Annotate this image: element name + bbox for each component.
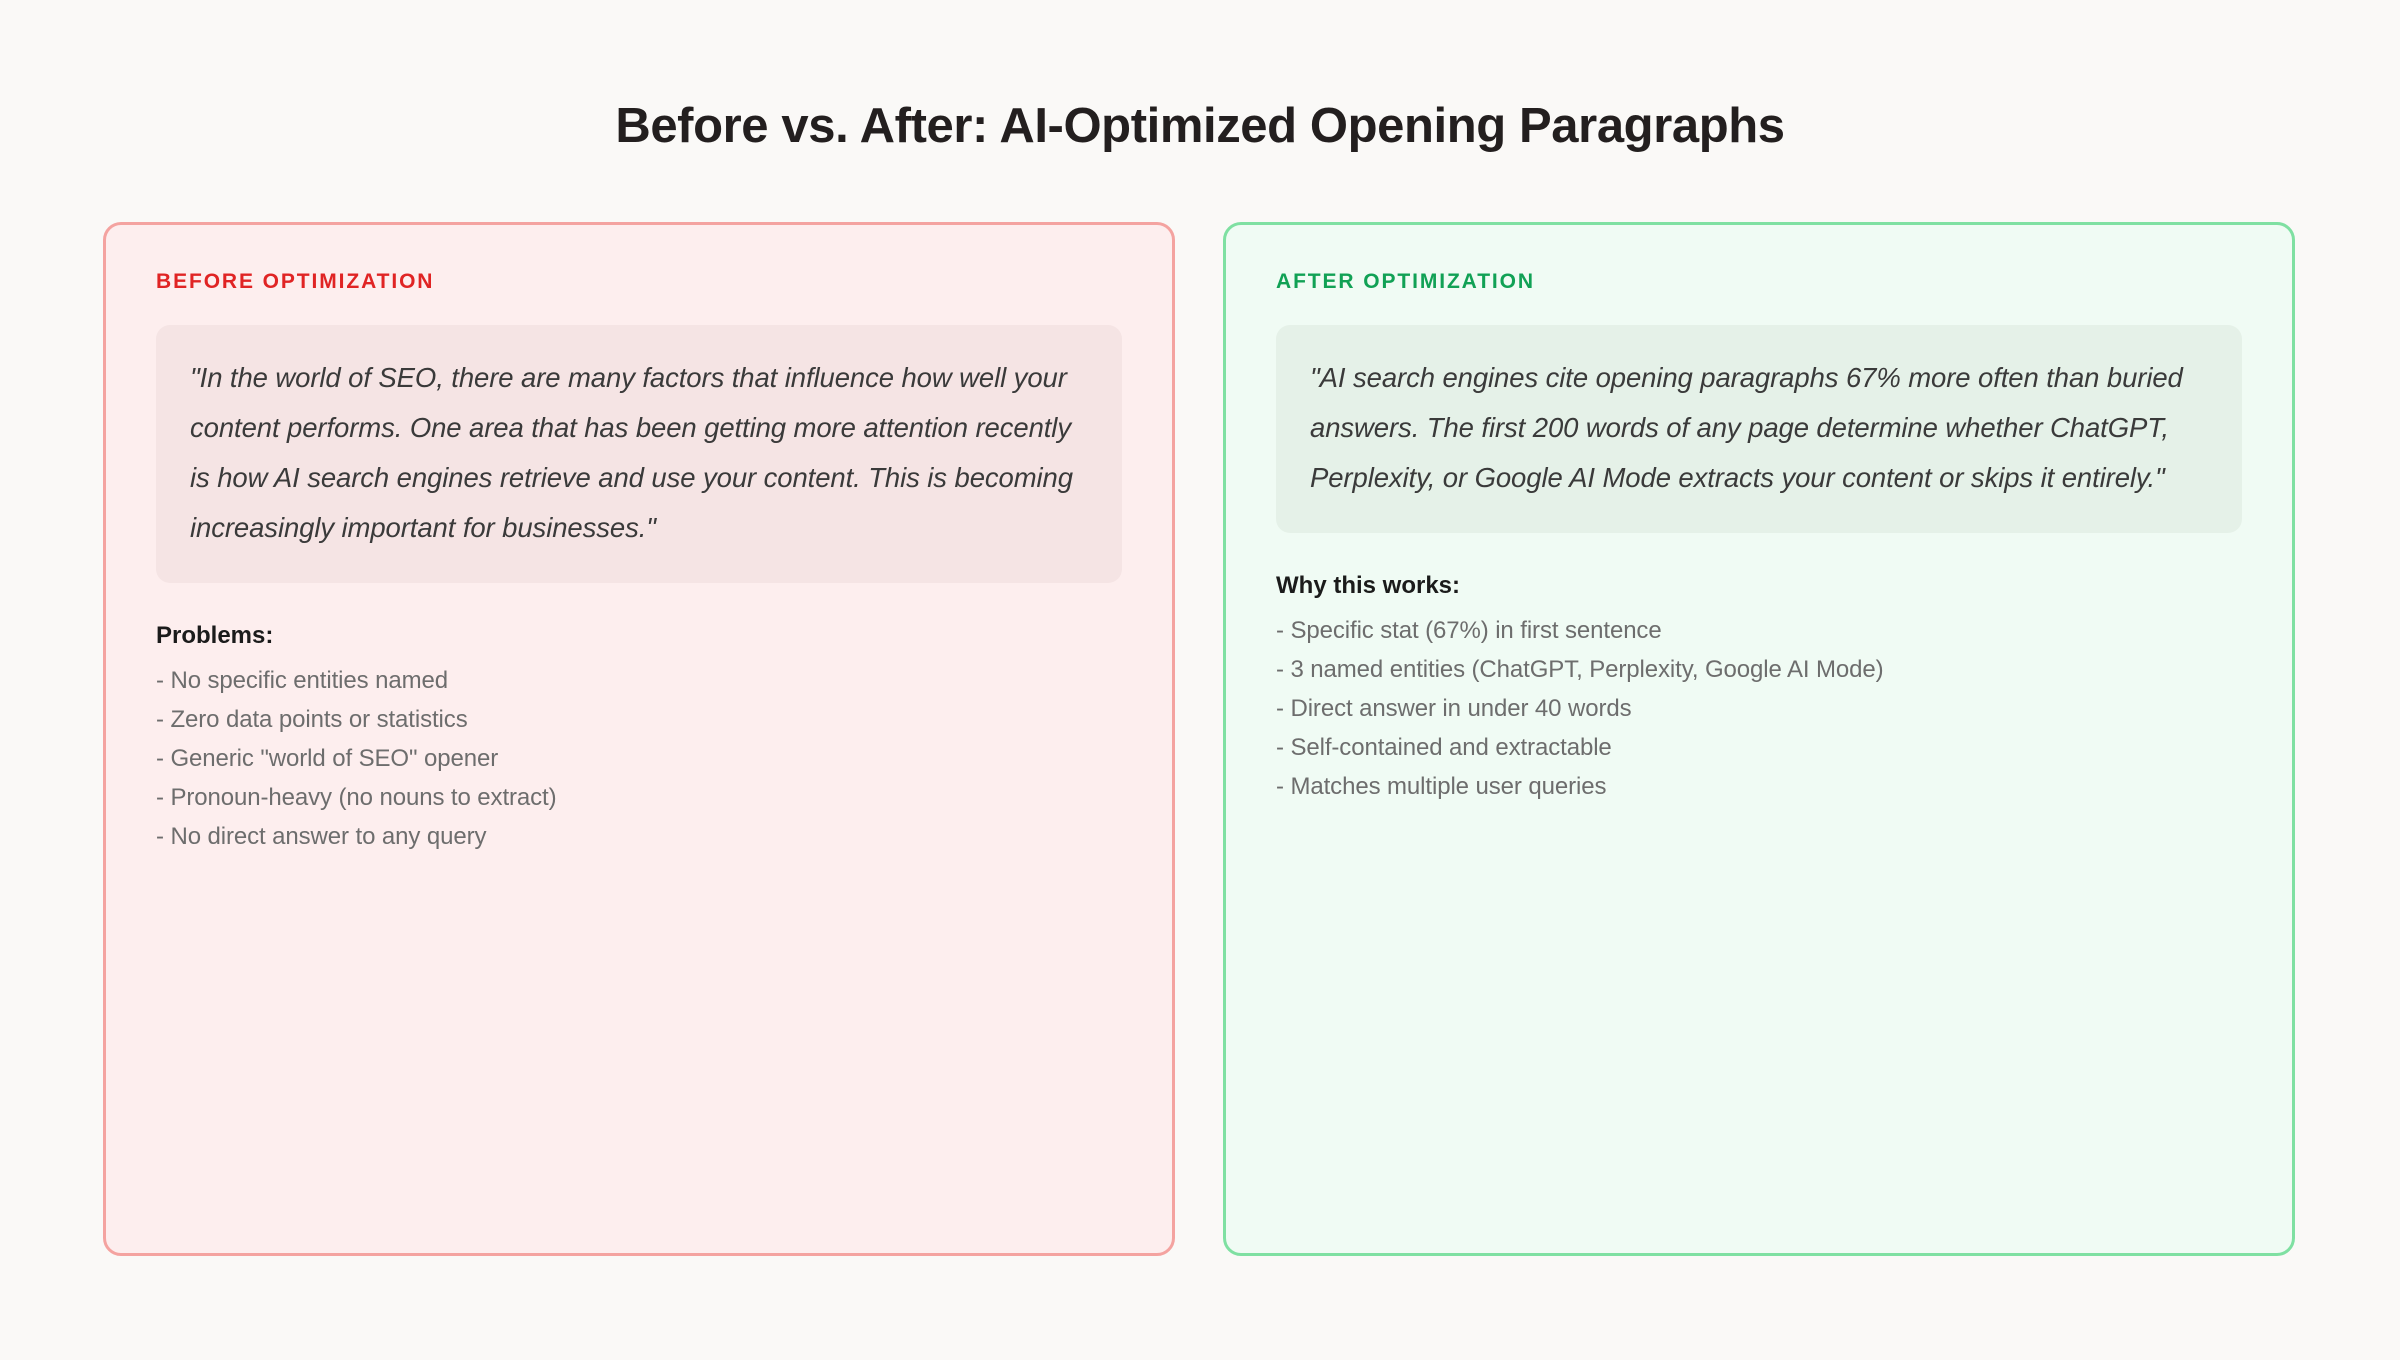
list-item: - No specific entities named (156, 662, 1122, 701)
list-item: - Zero data points or statistics (156, 701, 1122, 740)
after-optimization-card: AFTER OPTIMIZATION "AI search engines ci… (1223, 222, 2295, 1256)
infographic-page: Before vs. After: AI-Optimized Opening P… (0, 0, 2400, 1360)
after-notes-list: - Specific stat (67%) in first sentence … (1276, 612, 2242, 806)
after-quote-text: "AI search engines cite opening paragrap… (1310, 353, 2208, 503)
list-item: - Matches multiple user queries (1276, 768, 2242, 807)
list-item: - Self-contained and extractable (1276, 729, 2242, 768)
list-item: - Generic "world of SEO" opener (156, 740, 1122, 779)
before-quote-box: "In the world of SEO, there are many fac… (156, 325, 1122, 583)
after-quote-box: "AI search engines cite opening paragrap… (1276, 325, 2242, 533)
comparison-cards: BEFORE OPTIMIZATION "In the world of SEO… (103, 222, 2295, 1256)
before-notes-list: - No specific entities named - Zero data… (156, 662, 1122, 856)
page-title: Before vs. After: AI-Optimized Opening P… (0, 98, 2400, 154)
after-card-label: AFTER OPTIMIZATION (1276, 269, 2242, 294)
before-notes-heading: Problems: (156, 621, 1122, 651)
list-item: - Direct answer in under 40 words (1276, 690, 2242, 729)
before-quote-text: "In the world of SEO, there are many fac… (190, 353, 1088, 553)
list-item: - No direct answer to any query (156, 818, 1122, 857)
list-item: - 3 named entities (ChatGPT, Perplexity,… (1276, 651, 2242, 690)
list-item: - Specific stat (67%) in first sentence (1276, 612, 2242, 651)
before-card-label: BEFORE OPTIMIZATION (156, 269, 1122, 294)
list-item: - Pronoun-heavy (no nouns to extract) (156, 779, 1122, 818)
before-optimization-card: BEFORE OPTIMIZATION "In the world of SEO… (103, 222, 1175, 1256)
after-notes-heading: Why this works: (1276, 571, 2242, 601)
